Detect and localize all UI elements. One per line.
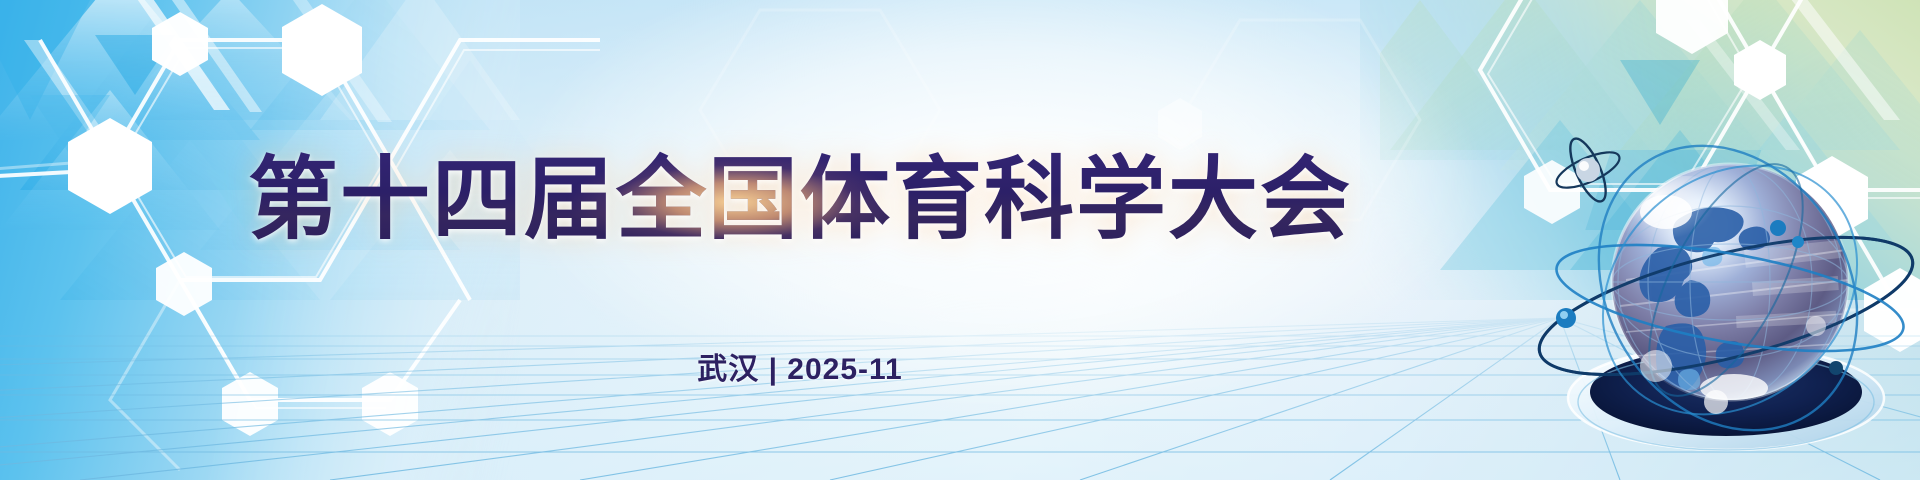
- subtitle-location-date: 武汉 | 2025-11: [0, 344, 1920, 388]
- page-title: 第十四届全国体育科学大会: [0, 150, 1920, 250]
- page-title-text: 第十四届全国体育科学大会: [248, 150, 1352, 250]
- conference-banner: .hexline{fill:none;stroke:#ffffff;stroke…: [0, 0, 1920, 480]
